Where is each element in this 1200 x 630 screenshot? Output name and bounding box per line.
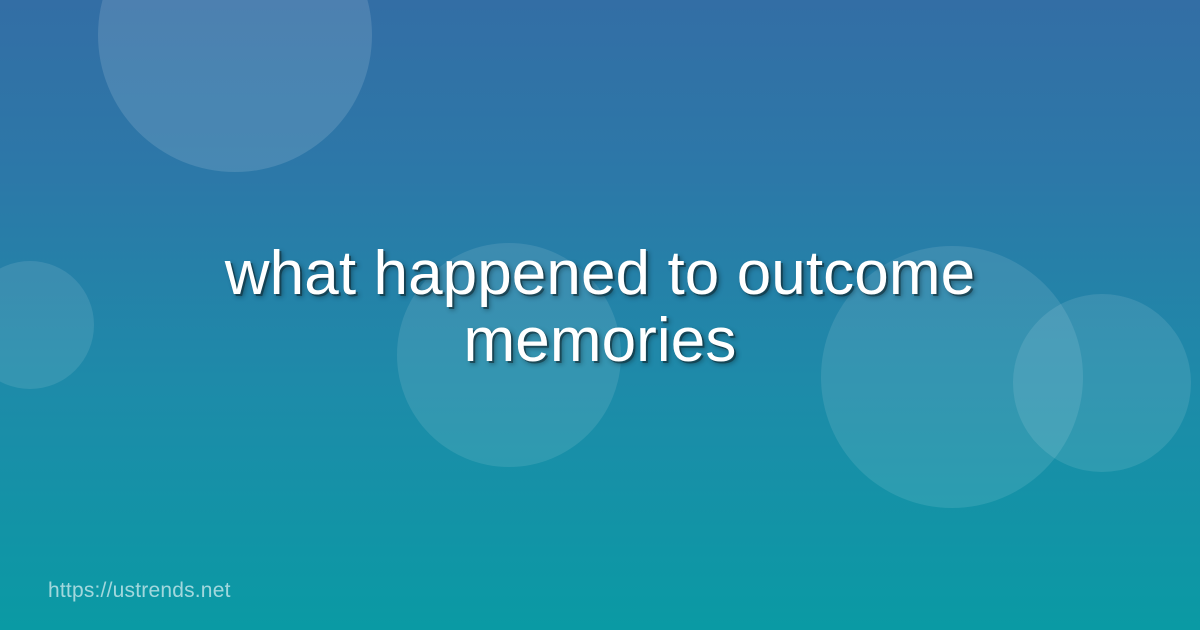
headline-container: what happened to outcome memories	[0, 0, 1200, 630]
site-url: https://ustrends.net	[48, 579, 231, 603]
share-card: what happened to outcome memories https:…	[0, 0, 1200, 630]
page-title: what happened to outcome memories	[120, 240, 1080, 374]
